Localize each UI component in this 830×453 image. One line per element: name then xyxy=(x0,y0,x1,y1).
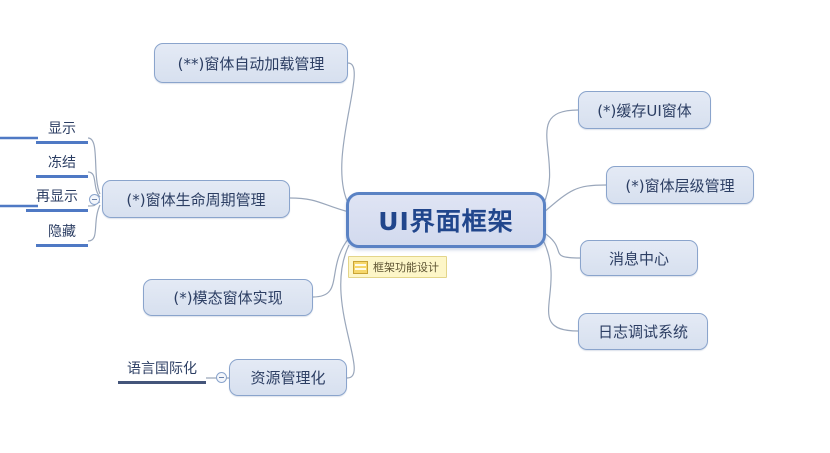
node-label: 日志调试系统 xyxy=(598,321,688,342)
node-window-lifecycle-management[interactable]: (*)窗体生命周期管理 xyxy=(102,180,290,218)
note-label: 框架功能设计 xyxy=(373,259,439,275)
node-label: (**)窗体自动加载管理 xyxy=(178,53,325,74)
note-badge[interactable]: 框架功能设计 xyxy=(348,256,447,278)
leaf-hide[interactable]: 隐藏 xyxy=(36,221,88,247)
node-label: 资源管理化 xyxy=(250,367,325,388)
node-modal-window-implementation[interactable]: (*)模态窗体实现 xyxy=(143,279,313,316)
node-message-center[interactable]: 消息中心 xyxy=(580,240,698,276)
leaf-label: 隐藏 xyxy=(48,224,76,240)
leaf-freeze[interactable]: 冻结 xyxy=(36,152,88,178)
leaf-show[interactable]: 显示 xyxy=(36,118,88,144)
leaf-reshow[interactable]: 再显示 xyxy=(26,186,88,212)
node-label: (*)窗体层级管理 xyxy=(625,175,734,196)
leaf-label: 显示 xyxy=(48,121,76,137)
collapse-toggle-resource[interactable] xyxy=(216,372,227,383)
node-cache-ui-window[interactable]: (*)缓存UI窗体 xyxy=(578,91,711,129)
leaf-language-internationalization[interactable]: 语言国际化 xyxy=(118,358,206,384)
leaf-label: 冻结 xyxy=(48,155,76,171)
node-window-layer-management[interactable]: (*)窗体层级管理 xyxy=(606,166,754,204)
node-label: (*)缓存UI窗体 xyxy=(597,100,692,121)
node-resource-management[interactable]: 资源管理化 xyxy=(229,359,347,396)
collapse-toggle-lifecycle[interactable] xyxy=(89,194,100,205)
central-node-label: UI界面框架 xyxy=(378,202,514,238)
node-log-debug-system[interactable]: 日志调试系统 xyxy=(578,313,708,350)
node-label: (*)窗体生命周期管理 xyxy=(126,189,265,210)
mindmap-canvas: UI界面框架 框架功能设计 (**)窗体自动加载管理 (*)窗体生命周期管理 (… xyxy=(0,0,830,453)
leaf-label: 语言国际化 xyxy=(127,361,197,377)
node-label: (*)模态窗体实现 xyxy=(173,287,282,308)
node-window-autoload-management[interactable]: (**)窗体自动加载管理 xyxy=(154,43,348,83)
node-label: 消息中心 xyxy=(609,248,669,269)
note-icon xyxy=(353,261,368,274)
central-node[interactable]: UI界面框架 xyxy=(346,192,546,248)
leaf-label: 再显示 xyxy=(36,189,78,205)
